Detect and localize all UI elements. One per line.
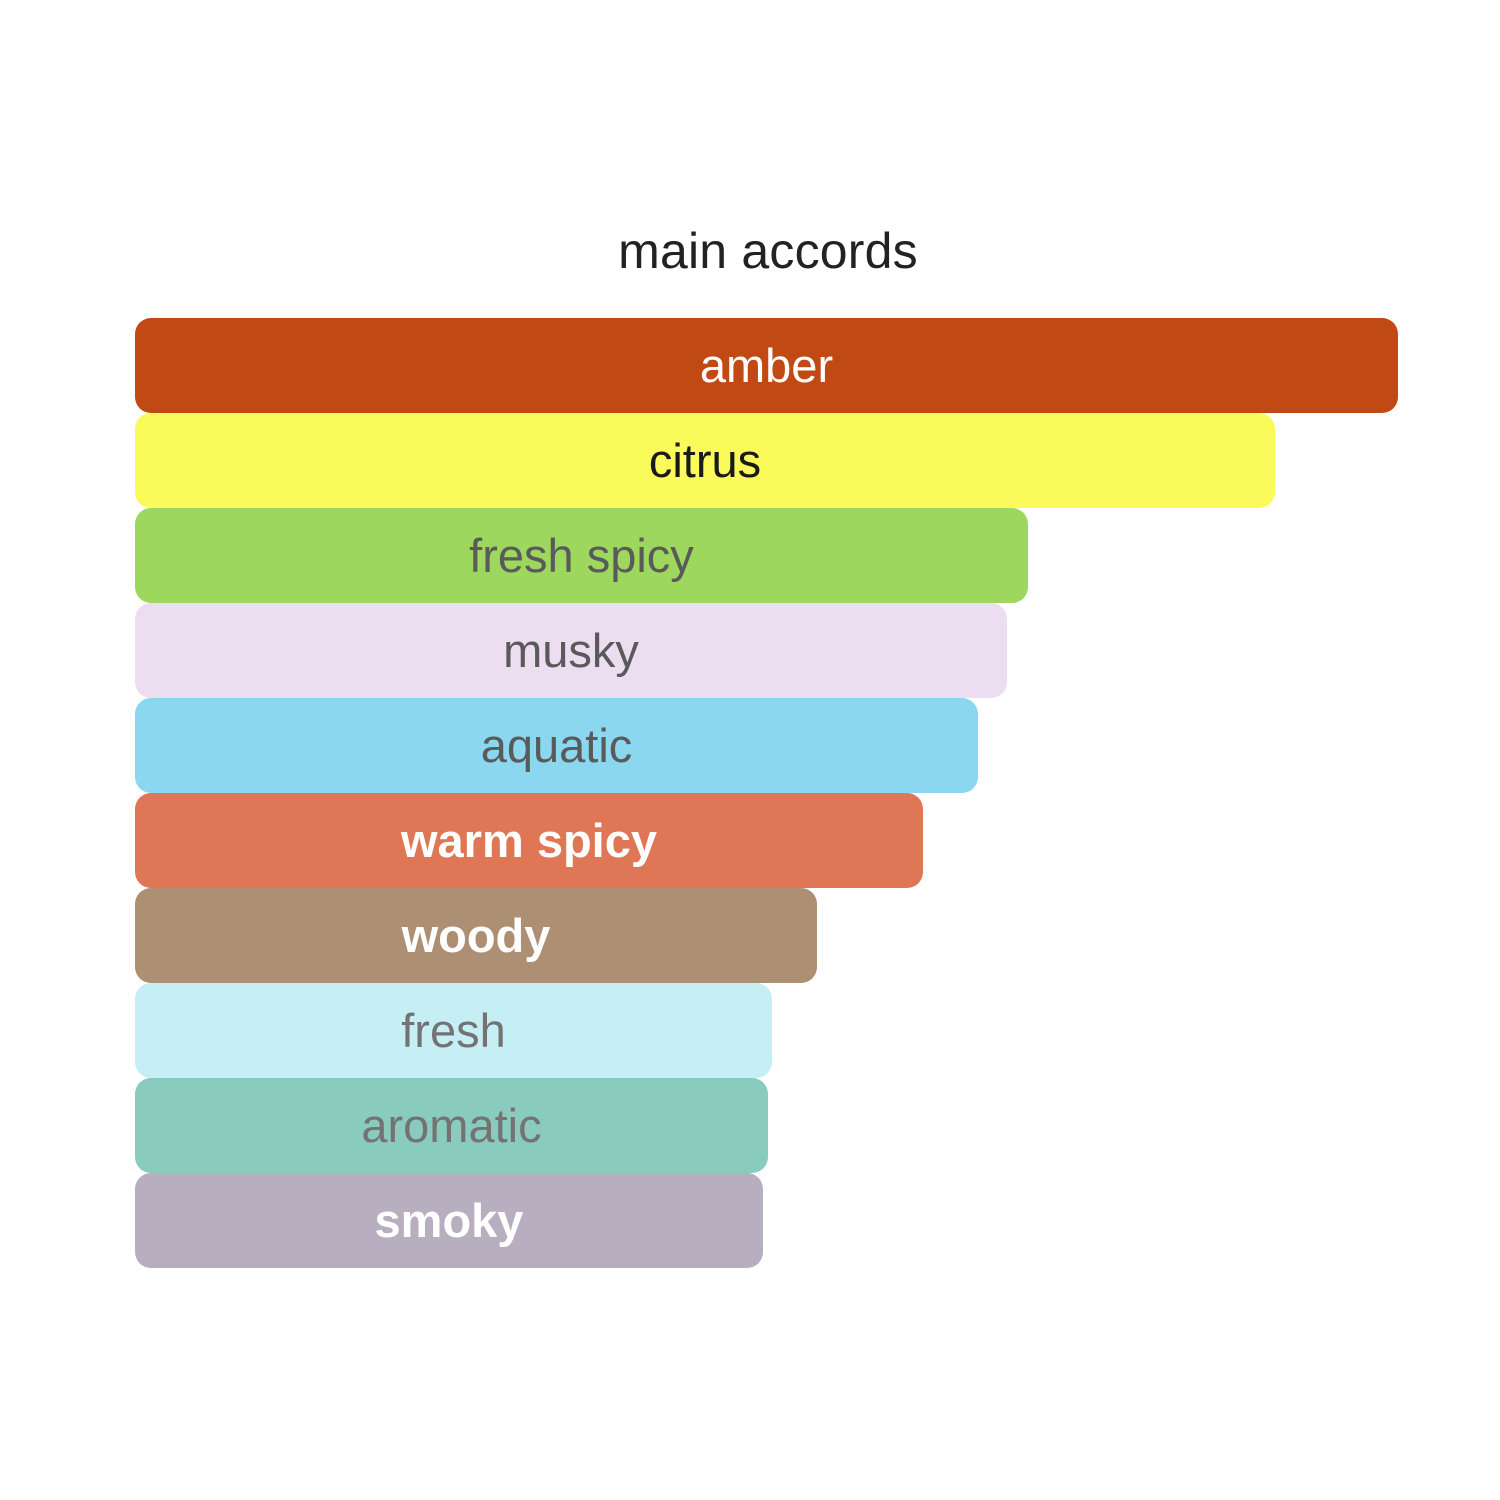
- bar-row[interactable]: aromatic: [135, 1078, 768, 1173]
- bar-fresh[interactable]: [135, 983, 772, 1078]
- bar-row[interactable]: fresh: [135, 983, 772, 1078]
- bar-smoky[interactable]: [135, 1173, 763, 1268]
- bar-list: ambercitrusfresh spicymuskyaquaticwarm s…: [135, 318, 1425, 1278]
- chart-title: main accords: [0, 222, 1500, 280]
- bar-aquatic[interactable]: [135, 698, 978, 793]
- bar-aromatic[interactable]: [135, 1078, 768, 1173]
- bar-fresh-spicy[interactable]: [135, 508, 1028, 603]
- bar-row[interactable]: musky: [135, 603, 1007, 698]
- bar-woody[interactable]: [135, 888, 817, 983]
- bar-row[interactable]: aquatic: [135, 698, 978, 793]
- bar-row[interactable]: smoky: [135, 1173, 763, 1268]
- bar-row[interactable]: fresh spicy: [135, 508, 1028, 603]
- main-accords-chart: main accords ambercitrusfresh spicymusky…: [0, 0, 1500, 1500]
- bar-musky[interactable]: [135, 603, 1007, 698]
- bar-row[interactable]: warm spicy: [135, 793, 923, 888]
- bar-citrus[interactable]: [135, 413, 1275, 508]
- bar-row[interactable]: citrus: [135, 413, 1275, 508]
- bar-row[interactable]: amber: [135, 318, 1398, 413]
- bar-amber[interactable]: [135, 318, 1398, 413]
- bar-warm-spicy[interactable]: [135, 793, 923, 888]
- bar-row[interactable]: woody: [135, 888, 817, 983]
